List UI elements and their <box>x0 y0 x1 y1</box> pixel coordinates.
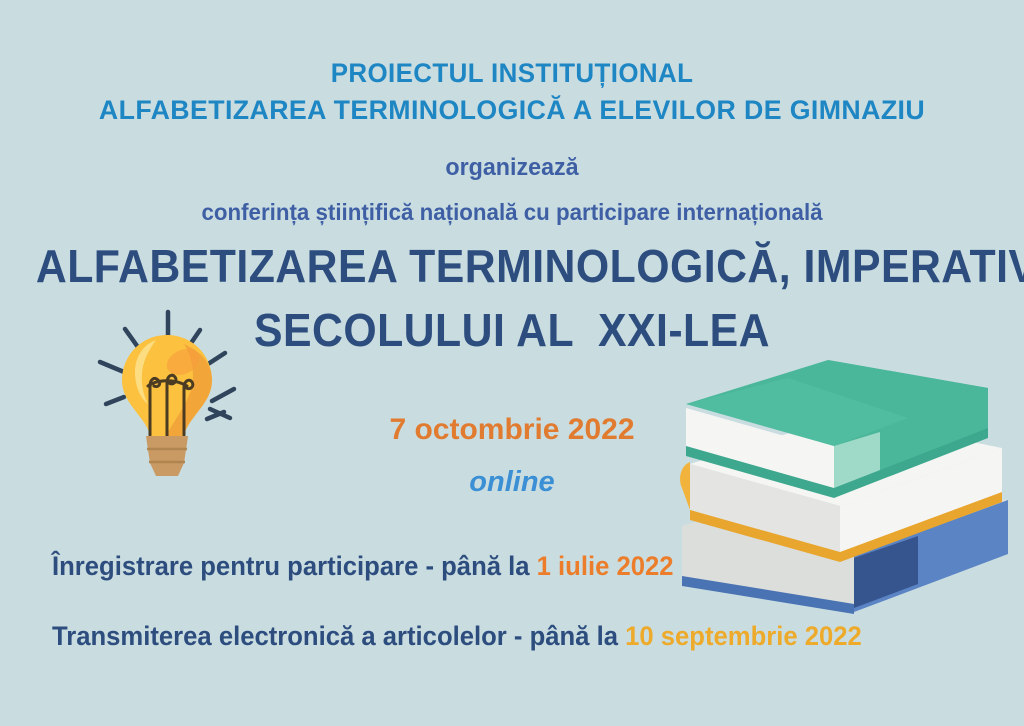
deadline-submission-date: 10 septembrie 2022 <box>625 621 862 651</box>
book-bottom-cover <box>682 510 1008 612</box>
page-title: ALFABETIZAREA TERMINOLOGICĂ, IMPERATIV A… <box>0 234 1024 362</box>
conference-subtitle: conferința științifică națională cu part… <box>15 190 1008 234</box>
book-middle-pages-side <box>840 448 1002 554</box>
deadline-registration: Înregistrare pentru participare - până l… <box>52 551 674 582</box>
conference-poster: PROIECTUL INSTITUȚIONAL ALFABETIZAREA TE… <box>0 0 1024 726</box>
deadline-registration-date: 1 iulie 2022 <box>537 551 674 581</box>
book-bottom-pages-front <box>682 526 854 608</box>
book-middle-edge-right <box>840 492 1002 562</box>
event-date: 7 octombrie 2022 <box>0 413 1024 447</box>
book-bottom-spine <box>854 500 1008 608</box>
title-line-2: SECOLULUI AL XXI-LEA <box>36 298 988 362</box>
organizer-block: organizează conferința științifică națio… <box>0 146 1024 234</box>
poster-header: PROIECTUL INSTITUȚIONAL ALFABETIZAREA TE… <box>0 55 1024 129</box>
header-line-1: PROIECTUL INSTITUȚIONAL <box>20 55 1003 92</box>
header-line-2: ALFABETIZAREA TERMINOLOGICĂ A ELEVILOR D… <box>5 92 1019 129</box>
deadline-registration-label: Înregistrare pentru participare - până l… <box>52 551 537 581</box>
book-bottom-edge <box>682 576 854 614</box>
organizer-verb: organizează <box>15 146 1008 190</box>
event-mode: online <box>0 466 1024 499</box>
title-line-1: ALFABETIZAREA TERMINOLOGICĂ, IMPERATIV A… <box>36 234 988 298</box>
book-bottom-spine-shadow <box>854 536 918 608</box>
deadline-submission-label: Transmiterea electronică a articolelor -… <box>52 621 625 651</box>
lightbulb-base-2 <box>148 450 186 463</box>
deadline-submission: Transmiterea electronică a articolelor -… <box>52 621 862 652</box>
book-middle-edge <box>690 510 840 562</box>
lightbulb-base-grooves <box>147 449 187 462</box>
